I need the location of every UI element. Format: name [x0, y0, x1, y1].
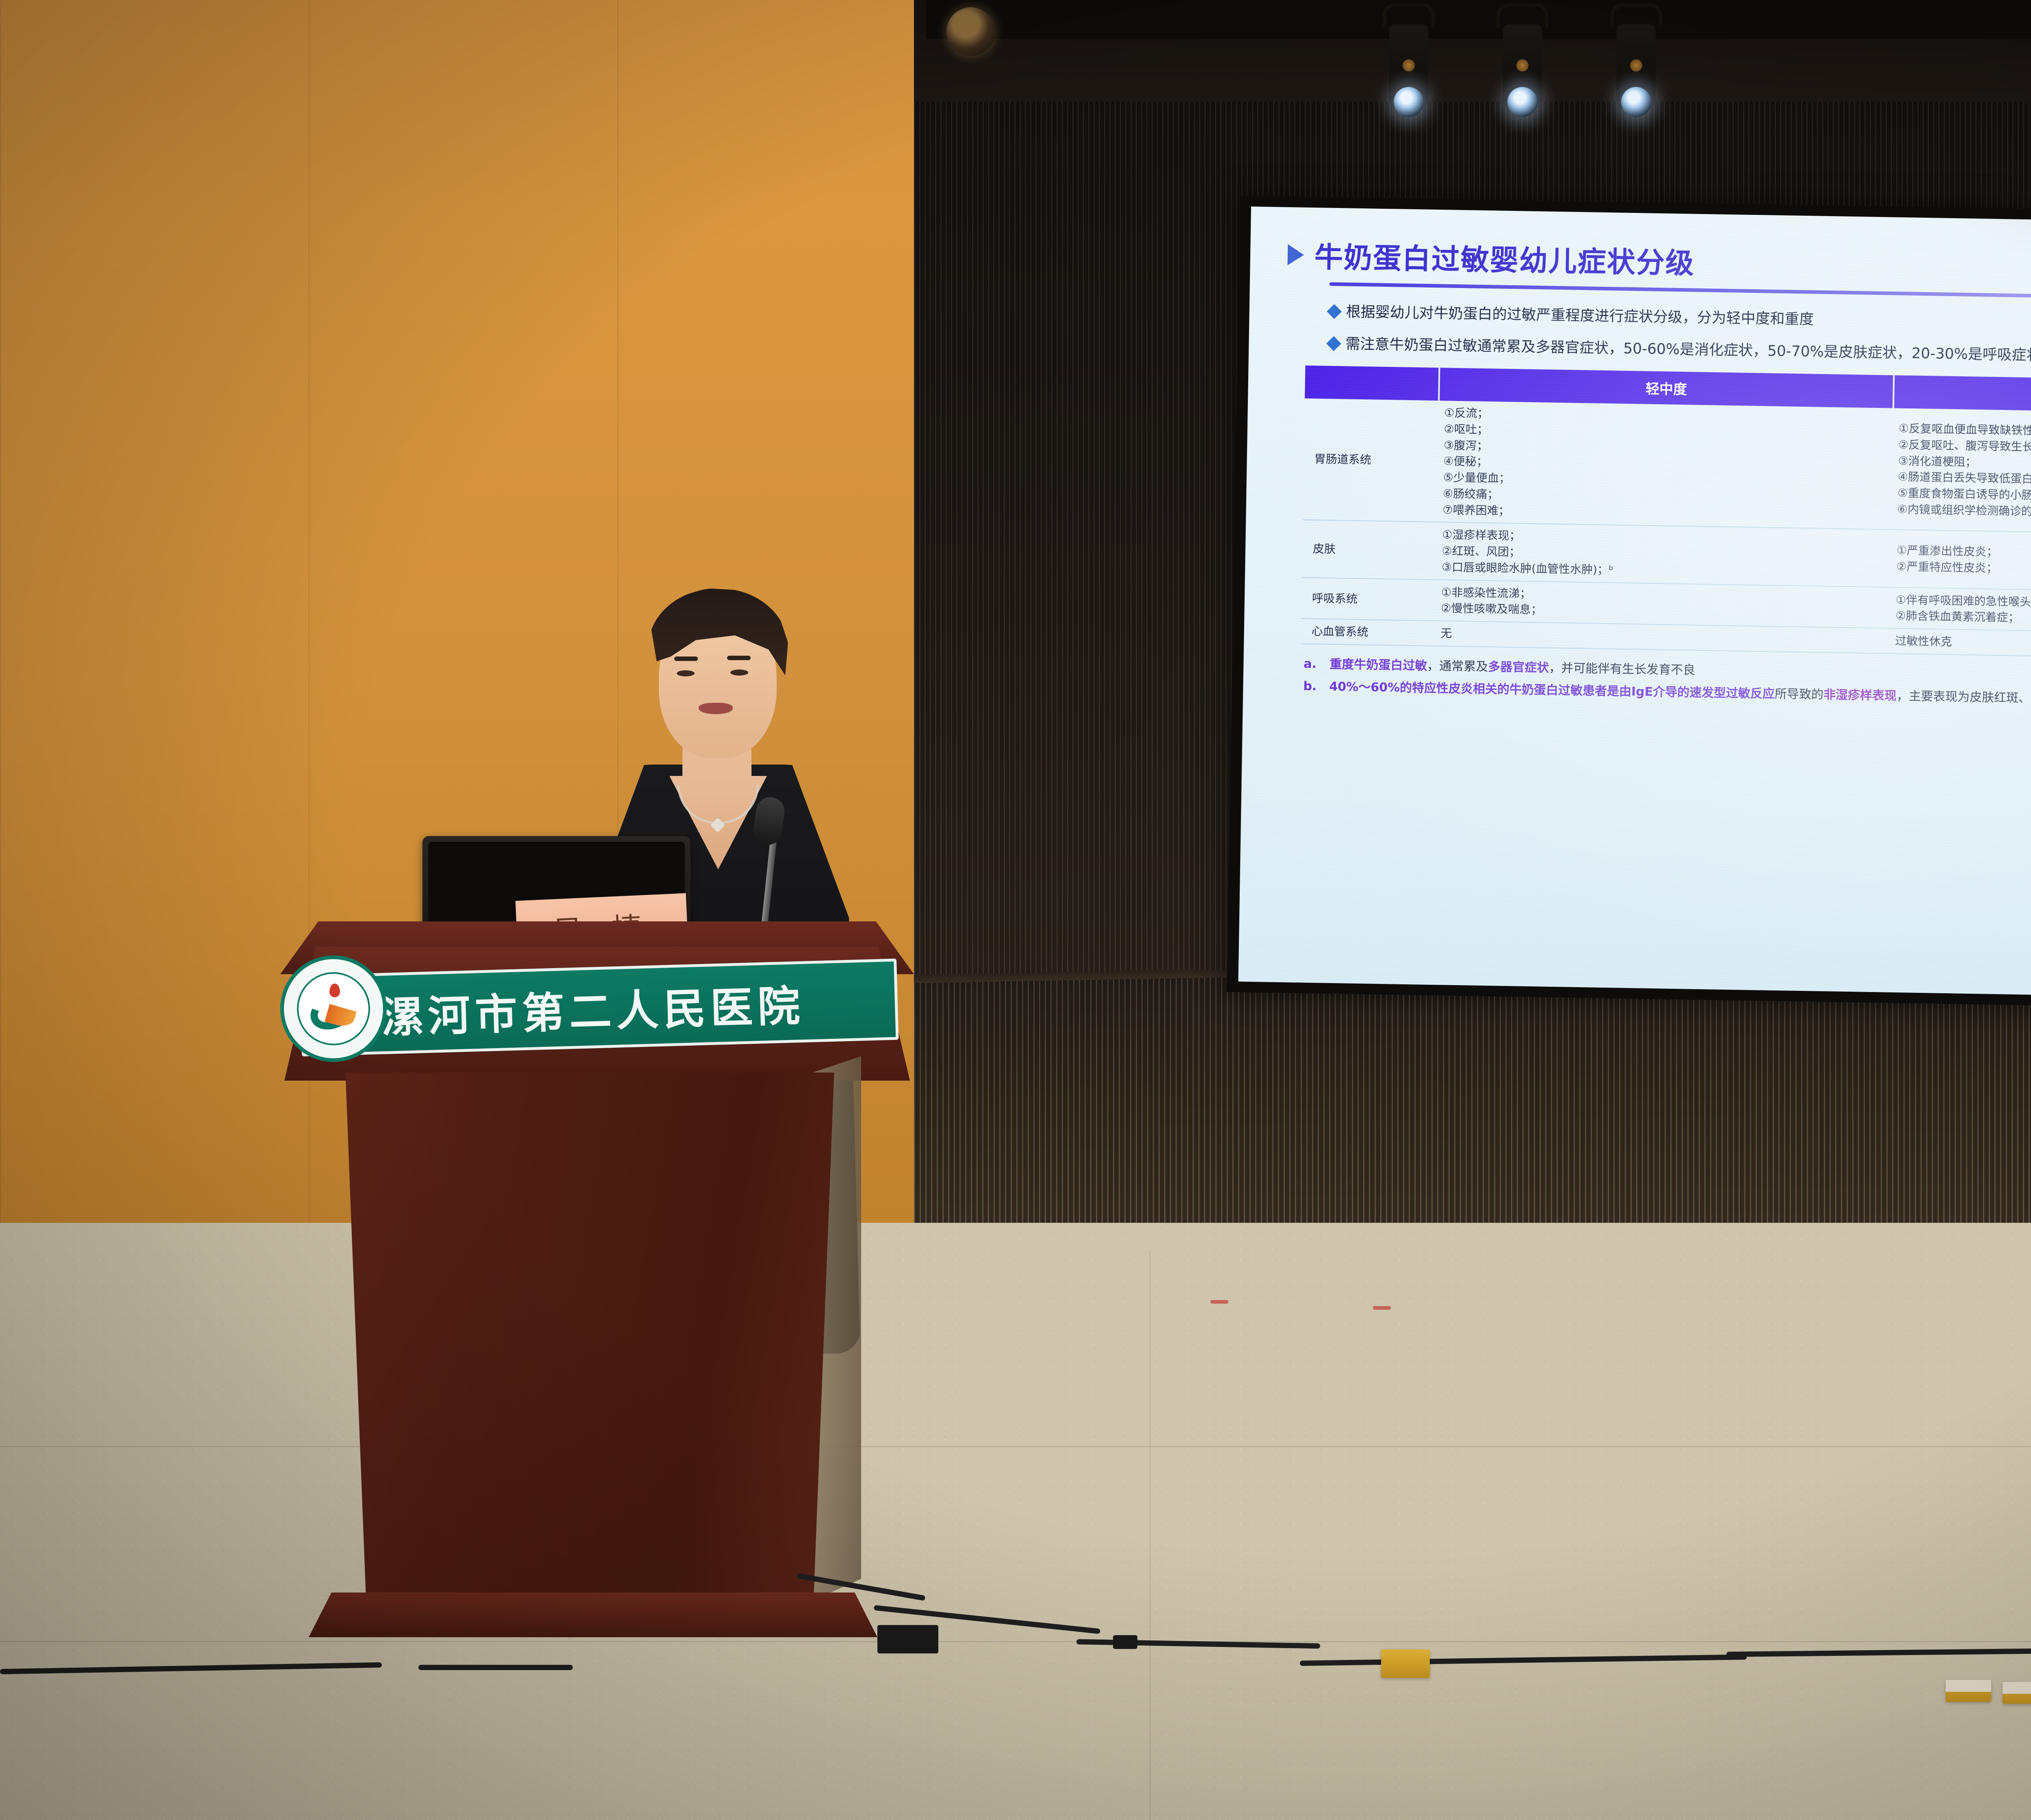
footnote-part: 由IgE介导的速发型过敏反应 [1619, 685, 1775, 701]
severity-table: 轻中度 重度ᵃ 胃肠道系统 ①反流； ②呕吐； ③腹泻； ④便秘； ⑤少量便血；… [1301, 366, 2031, 663]
row-category: 呼吸系统 [1301, 577, 1436, 621]
speaker-mouth [699, 703, 733, 714]
bullet-item: 需注意牛奶蛋白过敏通常累及多器官症状，50-60%是消化症状，50-70%是皮肤… [1328, 334, 2031, 373]
floor-socket-box [1381, 1649, 1430, 1678]
floor [0, 1223, 2031, 1820]
ceiling-truss [926, 0, 2031, 39]
diamond-bullet-icon [1327, 304, 1342, 319]
floor-marker [1373, 1306, 1391, 1310]
floor-cable [418, 1665, 573, 1670]
footnote-part: 非湿疹样表现 [1823, 688, 1897, 703]
logo-cross-icon [329, 984, 340, 997]
row-mild: ①反流； ②呕吐； ③腹泻； ④便秘； ⑤少量便血； ⑥肠绞痛； ⑦喂养困难； [1437, 401, 1893, 530]
row-category: 皮肤 [1302, 520, 1437, 580]
hospital-logo-icon [280, 955, 387, 1062]
footnote-part: ，并可能伴有生长发育不良 [1549, 661, 1695, 678]
footnote-part: ，主要表现为皮肤红斑、全身潮红、风团和血管性水肿等 [1897, 689, 2031, 708]
cable-adapter-box [1113, 1635, 1137, 1649]
footnote-label: b. [1303, 677, 1322, 696]
footnote-part: 所导致的 [1775, 687, 1824, 702]
footnote-part: 重度牛奶蛋白过敏 [1329, 657, 1427, 673]
projection-screen-frame: 牛奶蛋白过敏婴幼儿症状分级 根据婴幼儿对牛奶蛋白的过敏严重程度进行症状分级，分为… [1227, 196, 2031, 1013]
footnote-part: 多器官症状 [1488, 660, 1549, 675]
bullet-item: 根据婴幼儿对牛奶蛋白的过敏严重程度进行症状分级，分为轻中度和重度 [1329, 302, 2031, 341]
row-mild: ①非感染性流涕； ②慢性咳嗽及喘息； [1435, 580, 1890, 628]
projection-screen: 牛奶蛋白过敏婴幼儿症状分级 根据婴幼儿对牛奶蛋白的过敏严重程度进行症状分级，分为… [1238, 206, 2031, 1002]
floor-marker [1210, 1300, 1228, 1304]
row-category: 心血管系统 [1301, 619, 1435, 646]
table-header-blank [1305, 366, 1439, 401]
speaker-eye [730, 669, 748, 676]
lecture-hall-photo: 牛奶蛋白过敏婴幼儿症状分级 根据婴幼儿对牛奶蛋白的过敏严重程度进行症状分级，分为… [0, 0, 2031, 1820]
floor-seam [1150, 1251, 1150, 1820]
table-row: 胃肠道系统 ①反流； ②呕吐； ③腹泻； ④便秘； ⑤少量便血； ⑥肠绞痛； ⑦… [1303, 399, 2031, 539]
footnote-part: 40%～60%的特应性皮炎相关的牛奶蛋白过敏患者是 [1329, 680, 1619, 699]
bullet-text: 需注意牛奶蛋白过敏通常累及多器官症状，50-60%是消化症状，50-70%是皮肤… [1345, 334, 2031, 366]
logo-inner [297, 972, 370, 1046]
footnote-part: ，通常累及 [1427, 659, 1488, 674]
row-severe: ①反复呕血便血导致缺铁性贫血； ②反复呕吐、腹泻导致生长发育障碍； ③消化道梗阻… [1891, 408, 2031, 539]
floor-socket-box [1946, 1680, 1991, 1702]
slide-bullets: 根据婴幼儿对牛奶蛋白的过敏严重程度进行症状分级，分为轻中度和重度 需注意牛奶蛋白… [1328, 302, 2031, 373]
speaker-eyebrow [727, 656, 751, 660]
footnote-label: a. [1303, 655, 1323, 674]
floor-seam [0, 1641, 2031, 1642]
triangle-bullet-icon [1288, 244, 1304, 265]
spotlight [1617, 24, 1656, 110]
podium-body [330, 1072, 850, 1605]
ceiling-camera [946, 7, 995, 56]
footnote-text: 重度牛奶蛋白过敏，通常累及多器官症状，并可能伴有生长发育不良 [1329, 655, 1695, 680]
speaker-eye [677, 670, 695, 676]
table-body: 胃肠道系统 ①反流； ②呕吐； ③腹泻； ④便秘； ⑤少量便血； ⑥肠绞痛； ⑦… [1301, 399, 2031, 663]
presentation-slide: 牛奶蛋白过敏婴幼儿症状分级 根据婴幼儿对牛奶蛋白的过敏严重程度进行症状分级，分为… [1238, 206, 2031, 1002]
bullet-text: 根据婴幼儿对牛奶蛋白的过敏严重程度进行症状分级，分为轻中度和重度 [1346, 302, 1814, 330]
row-category: 胃肠道系统 [1303, 399, 1439, 522]
cable-adapter-box [877, 1625, 938, 1653]
floor-socket-box [2003, 1682, 2031, 1704]
floor-seam [0, 1446, 2031, 1447]
spotlight [1389, 24, 1428, 110]
row-severe: ①严重渗出性皮炎； ②严重特应性皮炎； [1890, 530, 2031, 597]
spotlight [1503, 24, 1542, 110]
slide-footnotes: a. 重度牛奶蛋白过敏，通常累及多器官症状，并可能伴有生长发育不良 b. 40%… [1303, 655, 2031, 715]
hospital-name-sign: 漯河市第二人民医院 [299, 959, 899, 1057]
row-mild: ①湿疹样表现； ②红斑、风团； ③口唇或眼睑水肿(血管性水肿)；ᵇ [1436, 522, 1891, 587]
slide-title: 牛奶蛋白过敏婴幼儿症状分级 [1314, 234, 1695, 282]
floor-texture [0, 1223, 2031, 1820]
podium-base [309, 1592, 877, 1637]
row-severe: 过敏性休克 [1889, 628, 2031, 663]
hospital-name-text: 漯河市第二人民医院 [380, 971, 805, 1044]
diamond-bullet-icon [1326, 336, 1341, 351]
speaker-eyebrow [674, 656, 698, 661]
